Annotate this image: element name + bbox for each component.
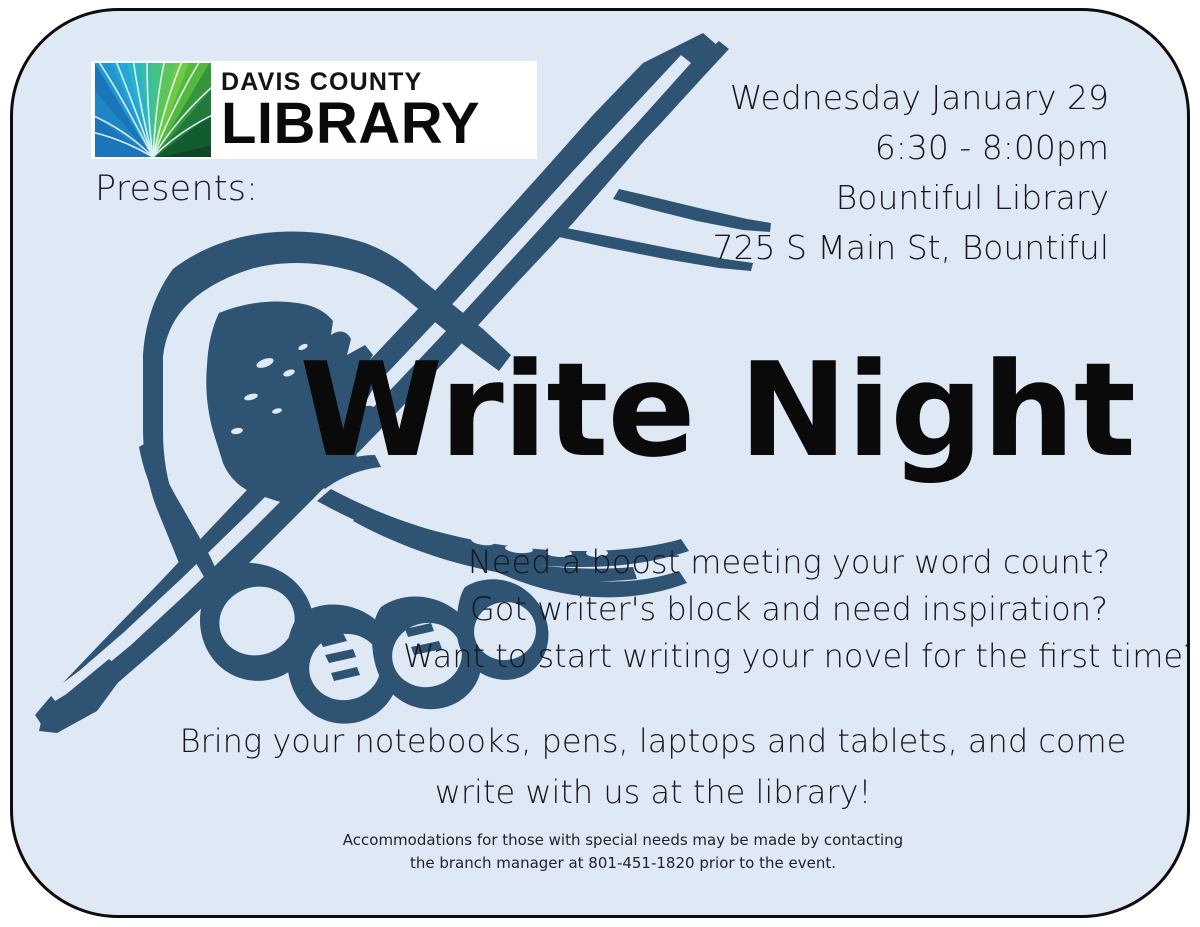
presents-label: Presents: xyxy=(95,169,258,209)
event-address: 725 S Main St, Bountiful xyxy=(713,223,1109,273)
accommodations-line-2: the branch manager at 801-451-1820 prior… xyxy=(203,852,1043,875)
question-line-1: Need a boost meeting your word count? xyxy=(403,539,1175,586)
event-time: 6:30 - 8:00pm xyxy=(713,123,1109,173)
invitation-line-1: Bring your notebooks, pens, laptops and … xyxy=(133,716,1173,767)
event-venue: Bountiful Library xyxy=(713,173,1109,223)
accommodations-line-1: Accommodations for those with special ne… xyxy=(203,829,1043,852)
davis-county-library-logo: DAVIS COUNTY LIBRARY xyxy=(91,61,537,159)
accommodations-notice: Accommodations for those with special ne… xyxy=(203,829,1043,874)
invitation-line-2: write with us at the library! xyxy=(133,767,1173,818)
event-date: Wednesday January 29 xyxy=(713,73,1109,123)
logo-line-library: LIBRARY xyxy=(221,97,537,150)
question-line-2: Got writer's block and need inspiration? xyxy=(403,586,1175,633)
flyer-page: DAVIS COUNTY LIBRARY Presents: Wednesday… xyxy=(0,0,1200,927)
page-title: Write Night xyxy=(300,345,1135,475)
question-line-3: Want to start writing your novel for the… xyxy=(403,633,1175,680)
event-details: Wednesday January 29 6:30 - 8:00pm Bount… xyxy=(713,73,1109,274)
prompt-questions: Need a boost meeting your word count? Go… xyxy=(403,539,1175,680)
flyer-card: DAVIS COUNTY LIBRARY Presents: Wednesday… xyxy=(10,8,1190,918)
davis-county-library-sunburst-icon xyxy=(95,63,211,157)
logo-wordmark: DAVIS COUNTY LIBRARY xyxy=(211,61,537,159)
invitation-text: Bring your notebooks, pens, laptops and … xyxy=(133,716,1173,818)
